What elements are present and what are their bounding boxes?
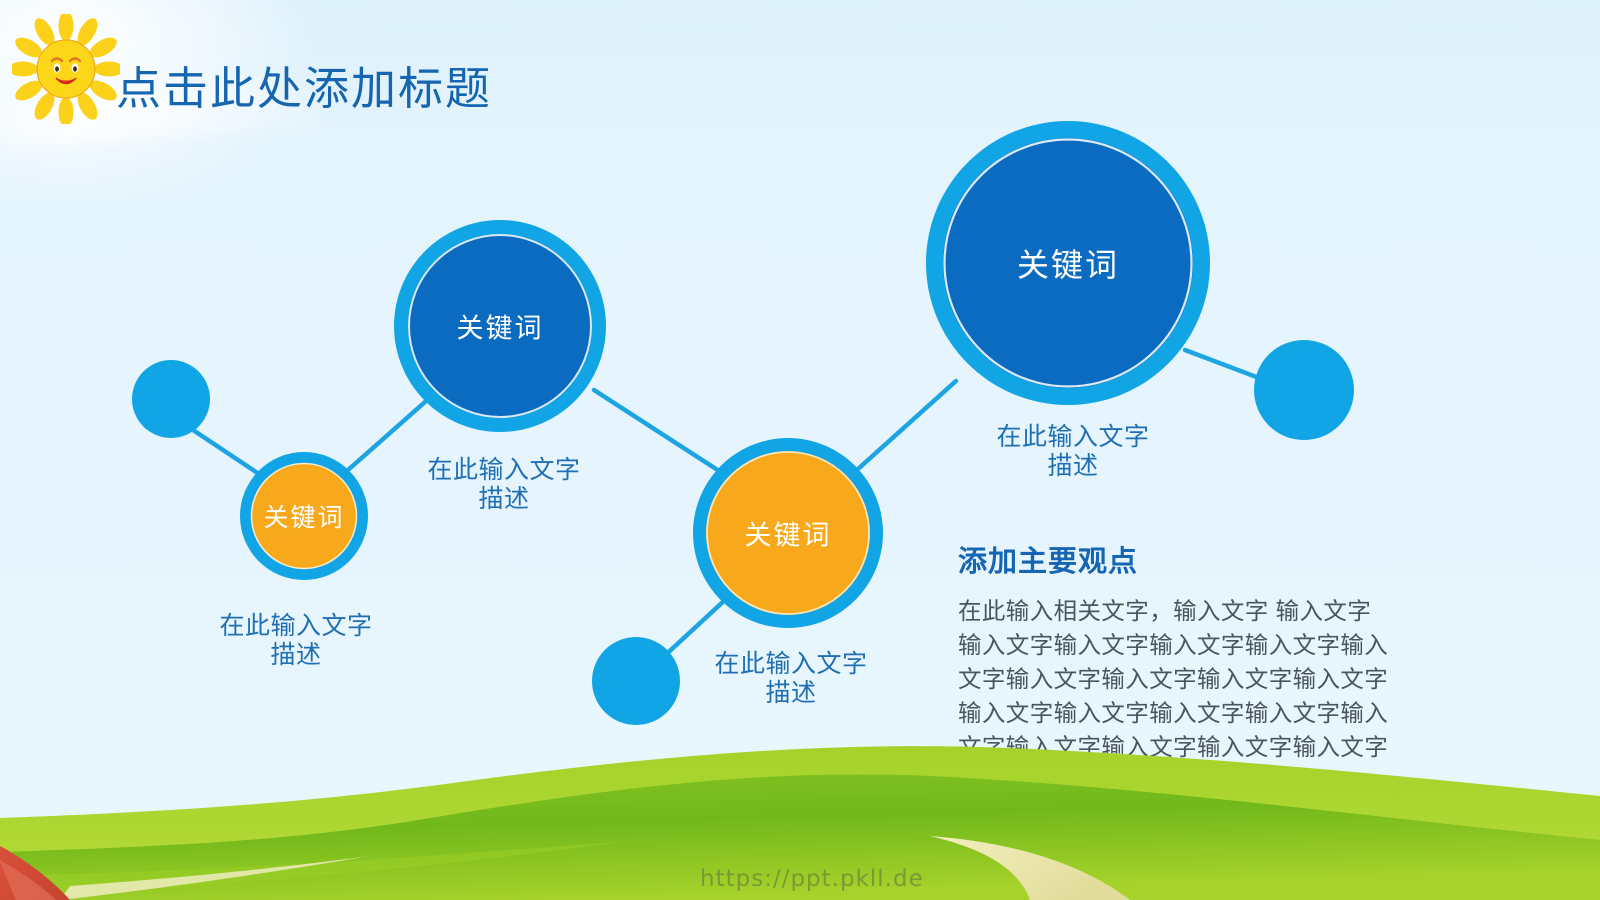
node-left-orange-label: 关键词 xyxy=(263,498,344,534)
dot-far-left xyxy=(132,360,210,438)
slide-canvas: 点击此处添加标题 xyxy=(0,0,1600,900)
panel-body-line: 在此输入相关文字，输入文字 输入文字 xyxy=(958,594,1450,628)
dot-far-right xyxy=(1254,340,1354,440)
caption-node-upper-blue: 在此输入文字 描述 xyxy=(427,456,580,514)
watermark: https://ppt.pkll.de xyxy=(700,866,924,892)
panel-body-line: 文字输入文字输入文字输入文字输入文字 xyxy=(958,662,1450,696)
node-upper-blue-label: 关键词 xyxy=(457,307,544,346)
node-right-blue-label: 关键词 xyxy=(1017,240,1119,286)
caption-node-right-blue: 在此输入文字 描述 xyxy=(996,423,1149,481)
connector-node1-to-node2 xyxy=(348,394,434,470)
connector-node3-to-node4 xyxy=(848,381,956,478)
caption-node-left-orange: 在此输入文字 描述 xyxy=(219,612,372,670)
panel-heading: 添加主要观点 xyxy=(958,538,1450,580)
node-center-orange-label: 关键词 xyxy=(745,514,832,553)
connector-node2-to-node3 xyxy=(594,390,730,478)
panel-body-line: 输入文字输入文字输入文字输入文字输入 xyxy=(958,628,1450,662)
